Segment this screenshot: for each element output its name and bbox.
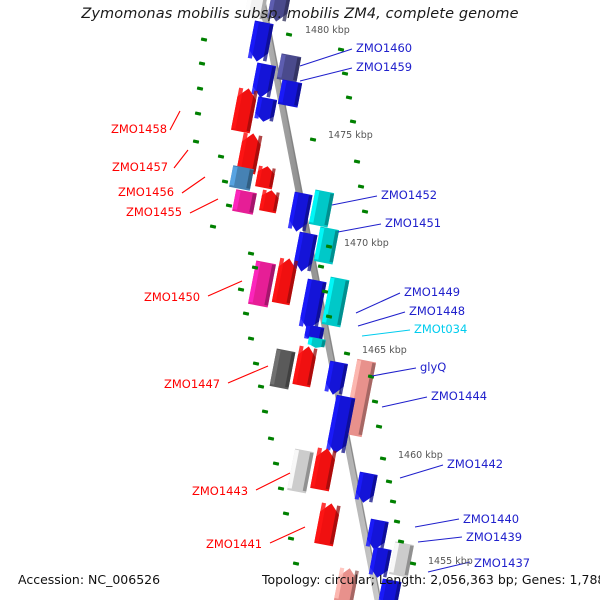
label-leader-glyQ [372,368,416,376]
gene-label-ZMO1459[interactable]: ZMO1459 [356,60,412,74]
scale-tick [238,287,245,291]
scale-marker-1480-kbp: 1480 kbp [305,25,350,36]
label-leader-ZMO1451 [338,224,381,232]
gene-feature-ZMO1440[interactable] [365,519,388,552]
gene-feature-ZMO1443[interactable] [287,449,314,494]
scale-marker-1475-kbp: 1475 kbp [328,130,373,141]
gene-feature-ZMO1459[interactable] [277,53,302,82]
gene-feature-ZMO1452b[interactable] [309,190,334,228]
gene-label-ZMO1441[interactable]: ZMO1441 [206,537,262,551]
scale-tick [273,461,280,465]
gene-label-ZMO1450[interactable]: ZMO1450 [144,290,200,304]
scale-tick [210,224,217,228]
scale-tick [338,47,345,51]
label-leader-ZMO1456 [182,177,205,193]
gene-feature-ZMO1447[interactable] [270,349,296,390]
scale-tick [288,536,295,540]
gene-label-glyQ[interactable]: glyQ [420,360,446,374]
gene-label-ZMO1439[interactable]: ZMO1439 [466,530,522,544]
gene-label-ZMO1448[interactable]: ZMO1448 [409,304,465,318]
topology-text: Topology: circular; Length: 2,056,363 bp… [262,572,600,587]
scale-tick [344,351,351,355]
gene-feature-ZMO1459c[interactable] [254,96,277,123]
label-leader-ZMO1455 [190,199,218,213]
scale-tick [258,384,265,388]
gene-label-ZMO1437[interactable]: ZMO1437 [474,556,530,570]
scale-tick [278,486,285,490]
label-leader-ZMO1440 [415,519,459,527]
gene-label-ZMO1458[interactable]: ZMO1458 [111,122,167,136]
label-leader-ZMO1457 [174,150,188,168]
gene-feature-ZMO1441[interactable] [314,502,341,547]
scale-tick [283,511,290,515]
label-leader-ZMO1448 [358,312,405,326]
genome-map-viewer[interactable]: Zymomonas mobilis subsp. mobilis ZM4, co… [0,0,600,600]
scale-tick [376,424,383,428]
scale-tick [386,479,393,483]
gene-label-ZMO1447[interactable]: ZMO1447 [164,377,220,391]
gene-feature-ZMO1447b[interactable] [292,345,317,388]
gene-feature-ZMO1443b[interactable] [310,447,337,492]
scale-tick [222,179,229,183]
status-bar: Accession: NC_006526 Topology: circular;… [0,572,600,592]
gene-feature-ZMO1455b[interactable] [259,189,280,214]
scale-tick [248,251,255,255]
label-leader-ZMO1447 [228,366,268,383]
scale-tick [286,32,293,36]
gene-label-ZMO1451[interactable]: ZMO1451 [385,216,441,230]
gene-feature-ZMO1458[interactable] [231,87,258,134]
scale-tick [410,561,417,565]
scale-tick [354,159,361,163]
scale-tick [372,399,379,403]
gene-feature-glyQ[interactable] [324,361,348,397]
scale-tick [262,409,269,413]
gene-label-ZMO1460[interactable]: ZMO1460 [356,41,412,55]
gene-label-ZMO1440[interactable]: ZMO1440 [463,512,519,526]
scale-tick [390,499,397,503]
label-leader-ZMO1442 [400,465,443,478]
gene-feature-ZMO1455[interactable] [232,189,257,215]
gene-label-ZMO1457[interactable]: ZMO1457 [112,160,168,174]
label-leader-ZMO1460 [300,49,352,66]
scale-tick [218,154,225,158]
gene-label-ZMO1442[interactable]: ZMO1442 [447,457,503,471]
scale-tick [318,264,325,268]
scale-tick [293,561,300,565]
scale-tick [350,119,357,123]
scale-tick [197,86,204,90]
gene-label-ZMOt034[interactable]: ZMOt034 [414,322,467,336]
gene-label-ZMO1443[interactable]: ZMO1443 [192,484,248,498]
label-leader-ZMO1458 [170,111,180,130]
scale-tick [193,139,200,143]
scale-tick [248,336,255,340]
scale-marker-1455-kbp: 1455 kbp [428,556,473,567]
scale-tick [380,456,387,460]
scale-tick [310,137,317,141]
gene-feature-group[interactable] [229,0,414,600]
gene-feature-ZMO1450b[interactable] [272,257,298,306]
label-leader-ZMOt034 [362,330,410,336]
label-leader-ZMO1439 [418,537,462,542]
scale-tick [253,361,260,365]
gene-label-ZMO1455[interactable]: ZMO1455 [126,205,182,219]
scale-tick [342,71,349,75]
label-leader-ZMO1449 [356,293,400,313]
scale-tick [362,209,369,213]
gene-label-ZMO1449[interactable]: ZMO1449 [404,285,460,299]
scale-tick [201,37,208,41]
label-leader-ZMO1452 [332,196,377,205]
gene-label-ZMO1452[interactable]: ZMO1452 [381,188,437,202]
scale-marker-1465-kbp: 1465 kbp [362,345,407,356]
genome-map-canvas[interactable] [0,0,600,600]
scale-marker-1460-kbp: 1460 kbp [398,450,443,461]
page-title: Zymomonas mobilis subsp. mobilis ZM4, co… [0,6,600,22]
label-leader-ZMO1443 [256,473,290,490]
scale-tick [199,61,206,65]
accession-text: Accession: NC_006526 [18,572,160,587]
label-leader-ZMO1444 [382,397,427,407]
label-leader-ZMO1450 [208,281,242,296]
label-leader-ZMO1441 [270,527,305,543]
gene-feature-ZMO1456[interactable] [229,165,254,191]
scale-marker-1470-kbp: 1470 kbp [344,238,389,249]
gene-feature-ZMO1442[interactable] [354,472,377,505]
gene-feature-ZMO1456b[interactable] [255,165,276,190]
scale-tick [268,436,275,440]
scale-tick [358,184,365,188]
gene-label-ZMO1444[interactable]: ZMO1444 [431,389,487,403]
scale-tick [394,519,401,523]
scale-tick [243,311,250,315]
gene-label-ZMO1456[interactable]: ZMO1456 [118,185,174,199]
gene-feature-ZMOt034b[interactable] [307,336,326,349]
scale-tick [346,95,353,99]
scale-tick [195,111,202,115]
scale-tick [226,203,233,207]
